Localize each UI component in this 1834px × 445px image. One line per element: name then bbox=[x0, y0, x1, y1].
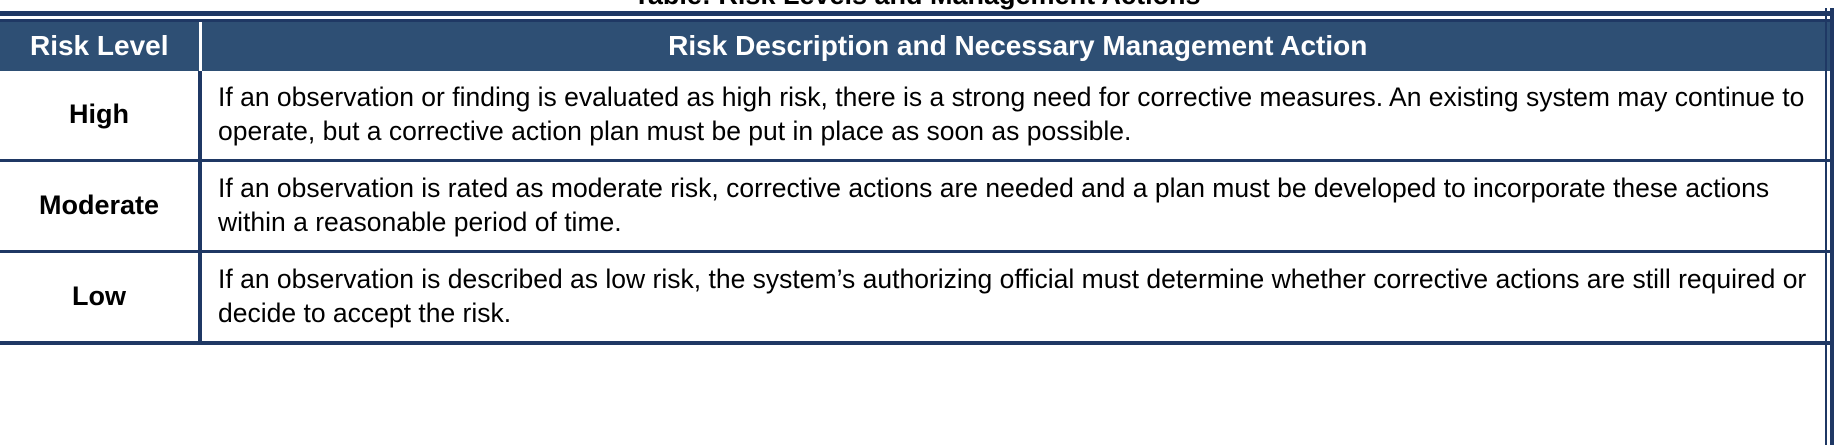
table-caption-clipped: Table: Risk Levels and Management Action… bbox=[0, 0, 1834, 11]
table-row: Low If an observation is described as lo… bbox=[0, 251, 1834, 340]
risk-description-high: If an observation or finding is evaluate… bbox=[200, 71, 1834, 160]
table-row: Moderate If an observation is rated as m… bbox=[0, 160, 1834, 251]
table-body: High If an observation or finding is eva… bbox=[0, 71, 1834, 341]
column-header-risk-level: Risk Level bbox=[0, 22, 200, 71]
table-header-row: Risk Level Risk Description and Necessar… bbox=[0, 22, 1834, 71]
column-header-risk-description: Risk Description and Necessary Managemen… bbox=[200, 22, 1834, 71]
risk-level-label-moderate: Moderate bbox=[0, 160, 200, 251]
table-bottom-rule bbox=[0, 341, 1834, 345]
risk-table-container: Risk Level Risk Description and Necessar… bbox=[0, 11, 1834, 345]
table-header: Risk Level Risk Description and Necessar… bbox=[0, 22, 1834, 71]
risk-description-low: If an observation is described as low ri… bbox=[200, 251, 1834, 340]
table-right-frame-outer bbox=[1830, 8, 1834, 445]
risk-level-label-high: High bbox=[0, 71, 200, 160]
table-caption-text: Table: Risk Levels and Management Action… bbox=[0, 0, 1834, 11]
table-row: High If an observation or finding is eva… bbox=[0, 71, 1834, 160]
table-right-frame-inner bbox=[1825, 8, 1827, 445]
risk-level-table-page: Table: Risk Levels and Management Action… bbox=[0, 0, 1834, 445]
risk-level-label-low: Low bbox=[0, 251, 200, 340]
risk-level-table: Risk Level Risk Description and Necessar… bbox=[0, 22, 1834, 341]
risk-description-moderate: If an observation is rated as moderate r… bbox=[200, 160, 1834, 251]
